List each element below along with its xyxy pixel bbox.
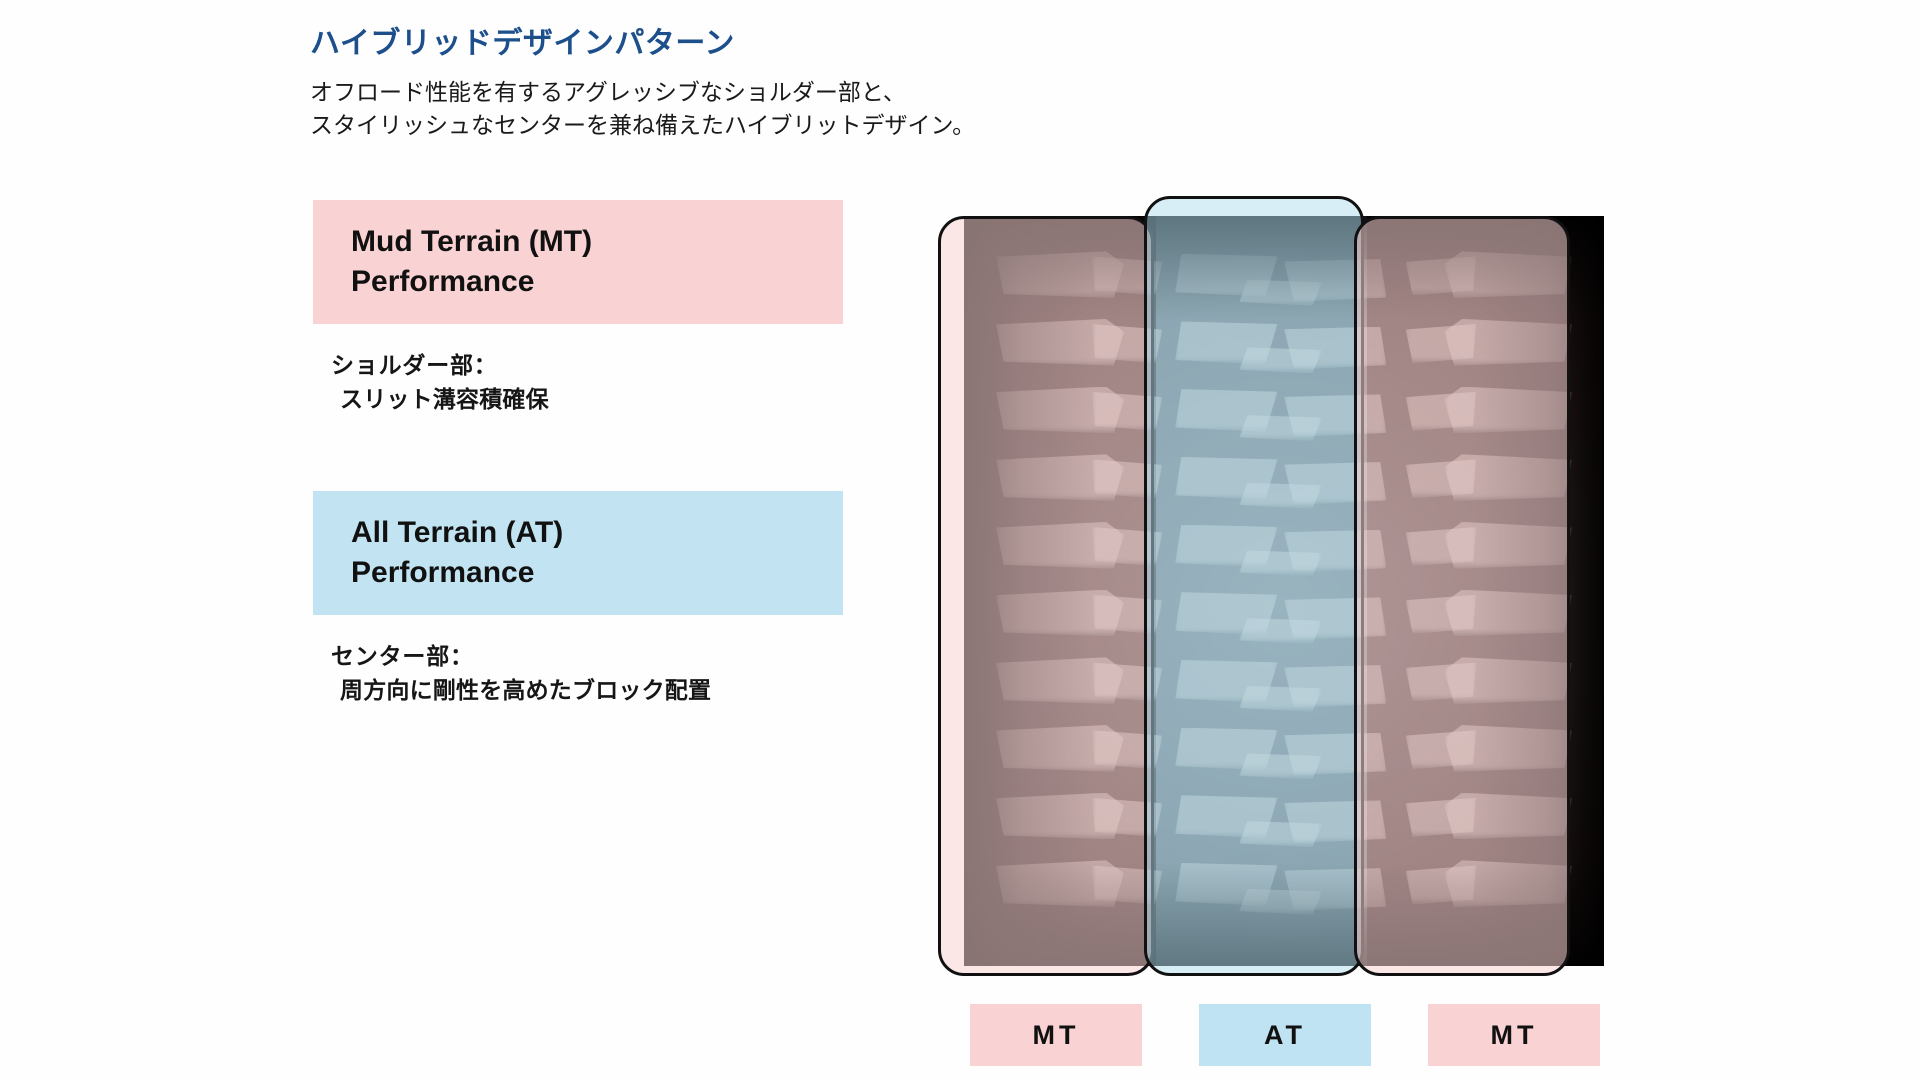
legend-mt-title-line-1: Mud Terrain (MT)	[351, 222, 843, 262]
legend-mt-desc-line-2: スリット溝容積確保	[331, 382, 843, 417]
legend-mt-desc-line-1: ショルダー部：	[331, 348, 843, 383]
legend-at-title-box: All Terrain (AT) Performance	[313, 491, 843, 615]
legend-at-description: センター部： 周方向に剛性を高めたブロック配置	[313, 639, 843, 708]
legend-mt-title-line-2: Performance	[351, 262, 843, 302]
tire-diagram	[938, 196, 1628, 986]
legend-at-desc-line-2: 周方向に剛性を高めたブロック配置	[331, 673, 843, 708]
page-subtitle-line-2: スタイリッシュなセンターを兼ね備えたハイブリットデザイン。	[310, 109, 975, 142]
legend-spacer	[313, 417, 843, 491]
legend-at-title-line-1: All Terrain (AT)	[351, 513, 843, 553]
zone-panel-at-center	[1144, 196, 1364, 976]
zone-panel-mt-left	[938, 216, 1154, 976]
page-title: ハイブリッドデザインパターン	[310, 18, 735, 62]
legend-column: Mud Terrain (MT) Performance ショルダー部： スリッ…	[313, 200, 843, 708]
legend-mt-description: ショルダー部： スリット溝容積確保	[313, 348, 843, 417]
zone-chip-mt-right: MT	[1428, 1004, 1600, 1066]
legend-mt-title-box: Mud Terrain (MT) Performance	[313, 200, 843, 324]
legend-at-title-line-2: Performance	[351, 553, 843, 593]
page-subtitle: オフロード性能を有するアグレッシブなショルダー部と、 スタイリッシュなセンターを…	[310, 76, 975, 143]
zone-chip-row: MT AT MT	[970, 1004, 1600, 1066]
zone-chip-at-center: AT	[1199, 1004, 1371, 1066]
page-subtitle-line-1: オフロード性能を有するアグレッシブなショルダー部と、	[310, 76, 975, 109]
slide-canvas: ハイブリッドデザインパターン オフロード性能を有するアグレッシブなショルダー部と…	[0, 0, 1920, 1080]
zone-chip-mt-left: MT	[970, 1004, 1142, 1066]
zone-panel-mt-right	[1354, 216, 1570, 976]
legend-at-desc-line-1: センター部：	[331, 639, 843, 674]
